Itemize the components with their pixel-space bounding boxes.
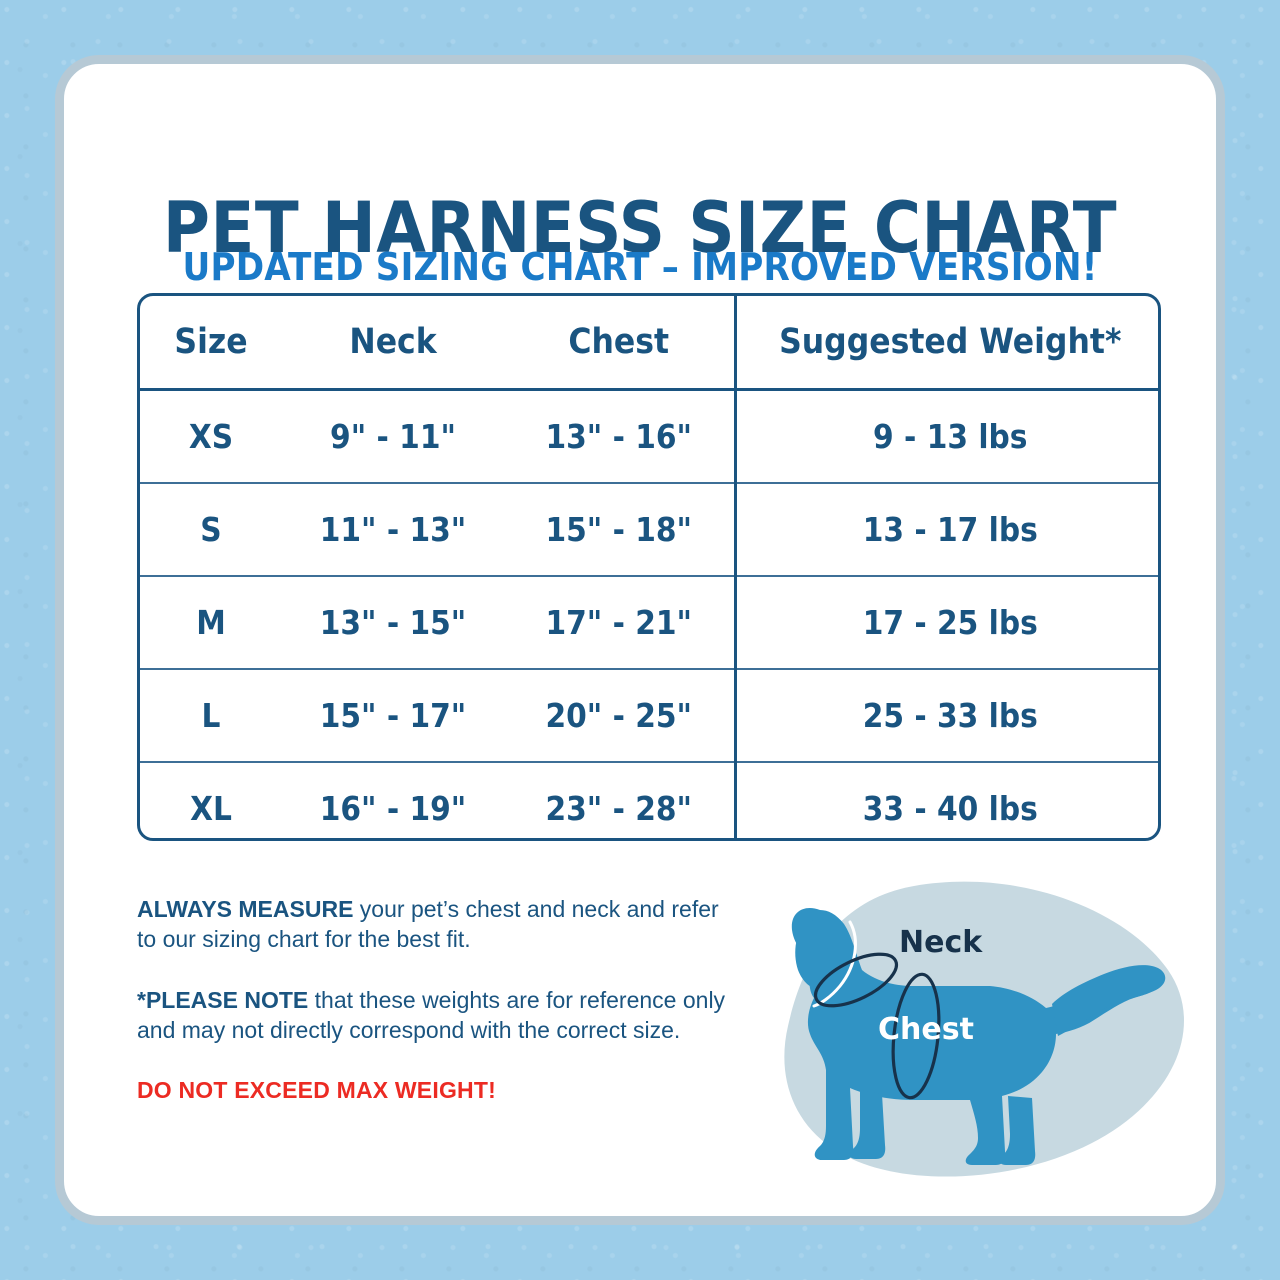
- cell-weight: 17 - 25 lbs: [735, 576, 1161, 669]
- note-max-weight-warning: DO NOT EXCEED MAX WEIGHT!: [137, 1075, 737, 1105]
- size-chart-table: Size Neck Chest Suggested Weight* XS 9" …: [137, 293, 1161, 841]
- cell-neck: 13" - 15": [282, 576, 504, 669]
- chest-label: Chest: [878, 1012, 974, 1047]
- cell-size: S: [140, 483, 282, 576]
- dog-measurement-illustration: Neck Chest: [764, 874, 1194, 1184]
- cell-size: XS: [140, 390, 282, 484]
- note-always-measure-lead: ALWAYS MEASURE: [137, 896, 353, 922]
- table-row: XS 9" - 11" 13" - 16" 9 - 13 lbs: [140, 390, 1161, 484]
- table-header-row: Size Neck Chest Suggested Weight*: [140, 296, 1161, 390]
- cell-size: L: [140, 669, 282, 762]
- size-chart-card: PET HARNESS SIZE CHART UPDATED SIZING CH…: [55, 55, 1225, 1225]
- cell-chest: 13" - 16": [504, 390, 735, 484]
- cell-size: M: [140, 576, 282, 669]
- table-row: XL 16" - 19" 23" - 28" 33 - 40 lbs: [140, 762, 1161, 841]
- column-header-chest: Chest: [504, 296, 735, 390]
- cell-chest: 23" - 28": [504, 762, 735, 841]
- table-row: L 15" - 17" 20" - 25" 25 - 33 lbs: [140, 669, 1161, 762]
- cell-neck: 9" - 11": [282, 390, 504, 484]
- note-always-measure: ALWAYS MEASURE your pet’s chest and neck…: [137, 894, 737, 955]
- column-header-neck: Neck: [282, 296, 504, 390]
- cell-weight: 9 - 13 lbs: [735, 390, 1161, 484]
- page-subtitle: UPDATED SIZING CHART – IMPROVED VERSION!: [64, 248, 1216, 286]
- cell-chest: 17" - 21": [504, 576, 735, 669]
- note-please-note: *PLEASE NOTE that these weights are for …: [137, 985, 737, 1046]
- cell-size: XL: [140, 762, 282, 841]
- cell-weight: 25 - 33 lbs: [735, 669, 1161, 762]
- cell-weight: 33 - 40 lbs: [735, 762, 1161, 841]
- cell-chest: 15" - 18": [504, 483, 735, 576]
- note-please-note-lead: *PLEASE NOTE: [137, 987, 308, 1013]
- column-header-suggested-weight: Suggested Weight*: [735, 296, 1161, 390]
- table-row: S 11" - 13" 15" - 18" 13 - 17 lbs: [140, 483, 1161, 576]
- notes-section: ALWAYS MEASURE your pet’s chest and neck…: [137, 894, 737, 1106]
- cell-chest: 20" - 25": [504, 669, 735, 762]
- cell-neck: 16" - 19": [282, 762, 504, 841]
- neck-label: Neck: [899, 925, 983, 960]
- table-row: M 13" - 15" 17" - 21" 17 - 25 lbs: [140, 576, 1161, 669]
- cell-weight: 13 - 17 lbs: [735, 483, 1161, 576]
- column-header-size: Size: [140, 296, 282, 390]
- cell-neck: 15" - 17": [282, 669, 504, 762]
- sizing-table: Size Neck Chest Suggested Weight* XS 9" …: [140, 296, 1161, 841]
- cell-neck: 11" - 13": [282, 483, 504, 576]
